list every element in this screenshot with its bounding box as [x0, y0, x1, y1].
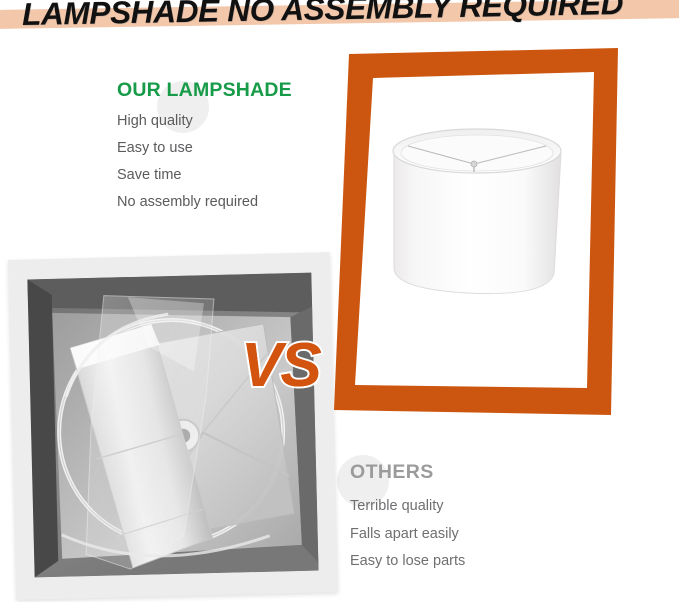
our-lampshade-product-image — [386, 126, 591, 316]
others-section: OTHERS Terrible quality Falls apart easi… — [350, 462, 580, 582]
others-product-image — [27, 273, 318, 578]
list-item: Terrible quality — [350, 499, 580, 514]
our-lampshade-feature-list: High quality Easy to use Save time No as… — [117, 114, 332, 210]
our-lampshade-heading: OUR LAMPSHADE — [117, 80, 332, 101]
page-title: LAMPSHADE NO ASSEMBLY REQUIRED — [22, 0, 679, 33]
list-item: Easy to lose parts — [350, 554, 580, 569]
others-photo-frame — [8, 252, 338, 600]
disassembled-parts-in-box-icon — [27, 273, 318, 578]
list-item: Falls apart easily — [350, 527, 580, 542]
vs-label: VS — [241, 335, 320, 397]
white-lampshade-icon — [386, 126, 591, 316]
our-lampshade-section: OUR LAMPSHADE High quality Easy to use S… — [117, 80, 332, 222]
list-item: No assembly required — [117, 195, 332, 210]
list-item: High quality — [117, 114, 332, 129]
list-item: Easy to use — [117, 141, 332, 156]
list-item: Save time — [117, 168, 332, 183]
others-feature-list: Terrible quality Falls apart easily Easy… — [350, 499, 580, 569]
others-heading: OTHERS — [350, 462, 580, 483]
